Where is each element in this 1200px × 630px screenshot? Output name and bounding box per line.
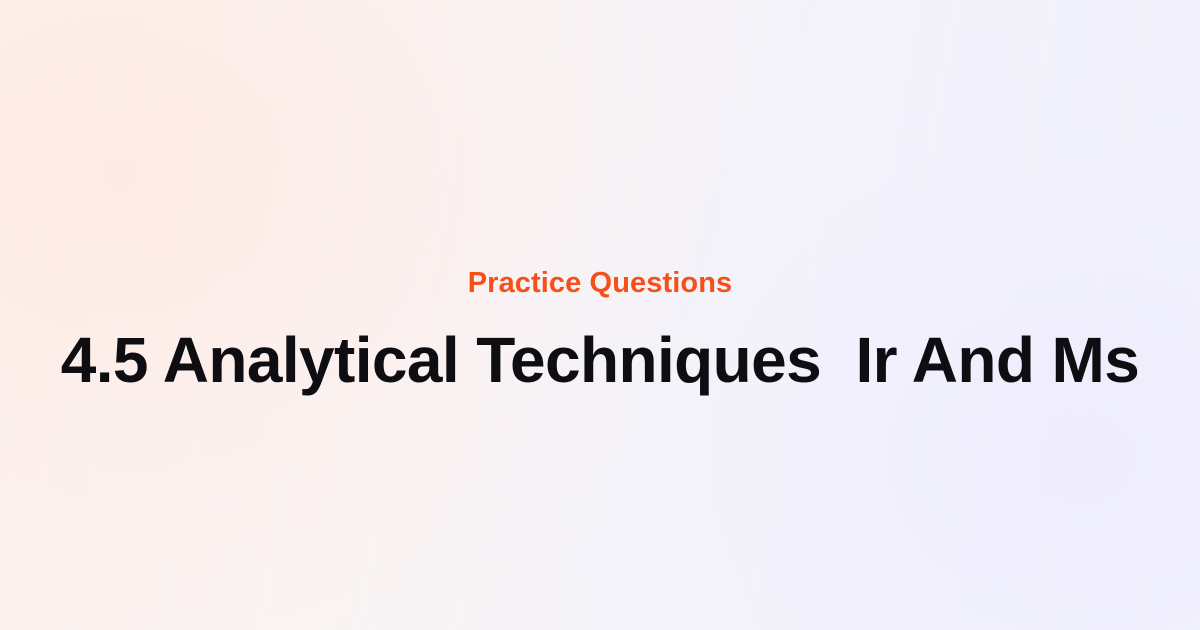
page-title: 4.5 Analytical Techniques Ir And Ms bbox=[61, 327, 1140, 395]
practice-questions-card: Practice Questions 4.5 Analytical Techni… bbox=[0, 0, 1200, 630]
card-content: Practice Questions 4.5 Analytical Techni… bbox=[0, 269, 1200, 395]
eyebrow-label: Practice Questions bbox=[468, 269, 733, 298]
